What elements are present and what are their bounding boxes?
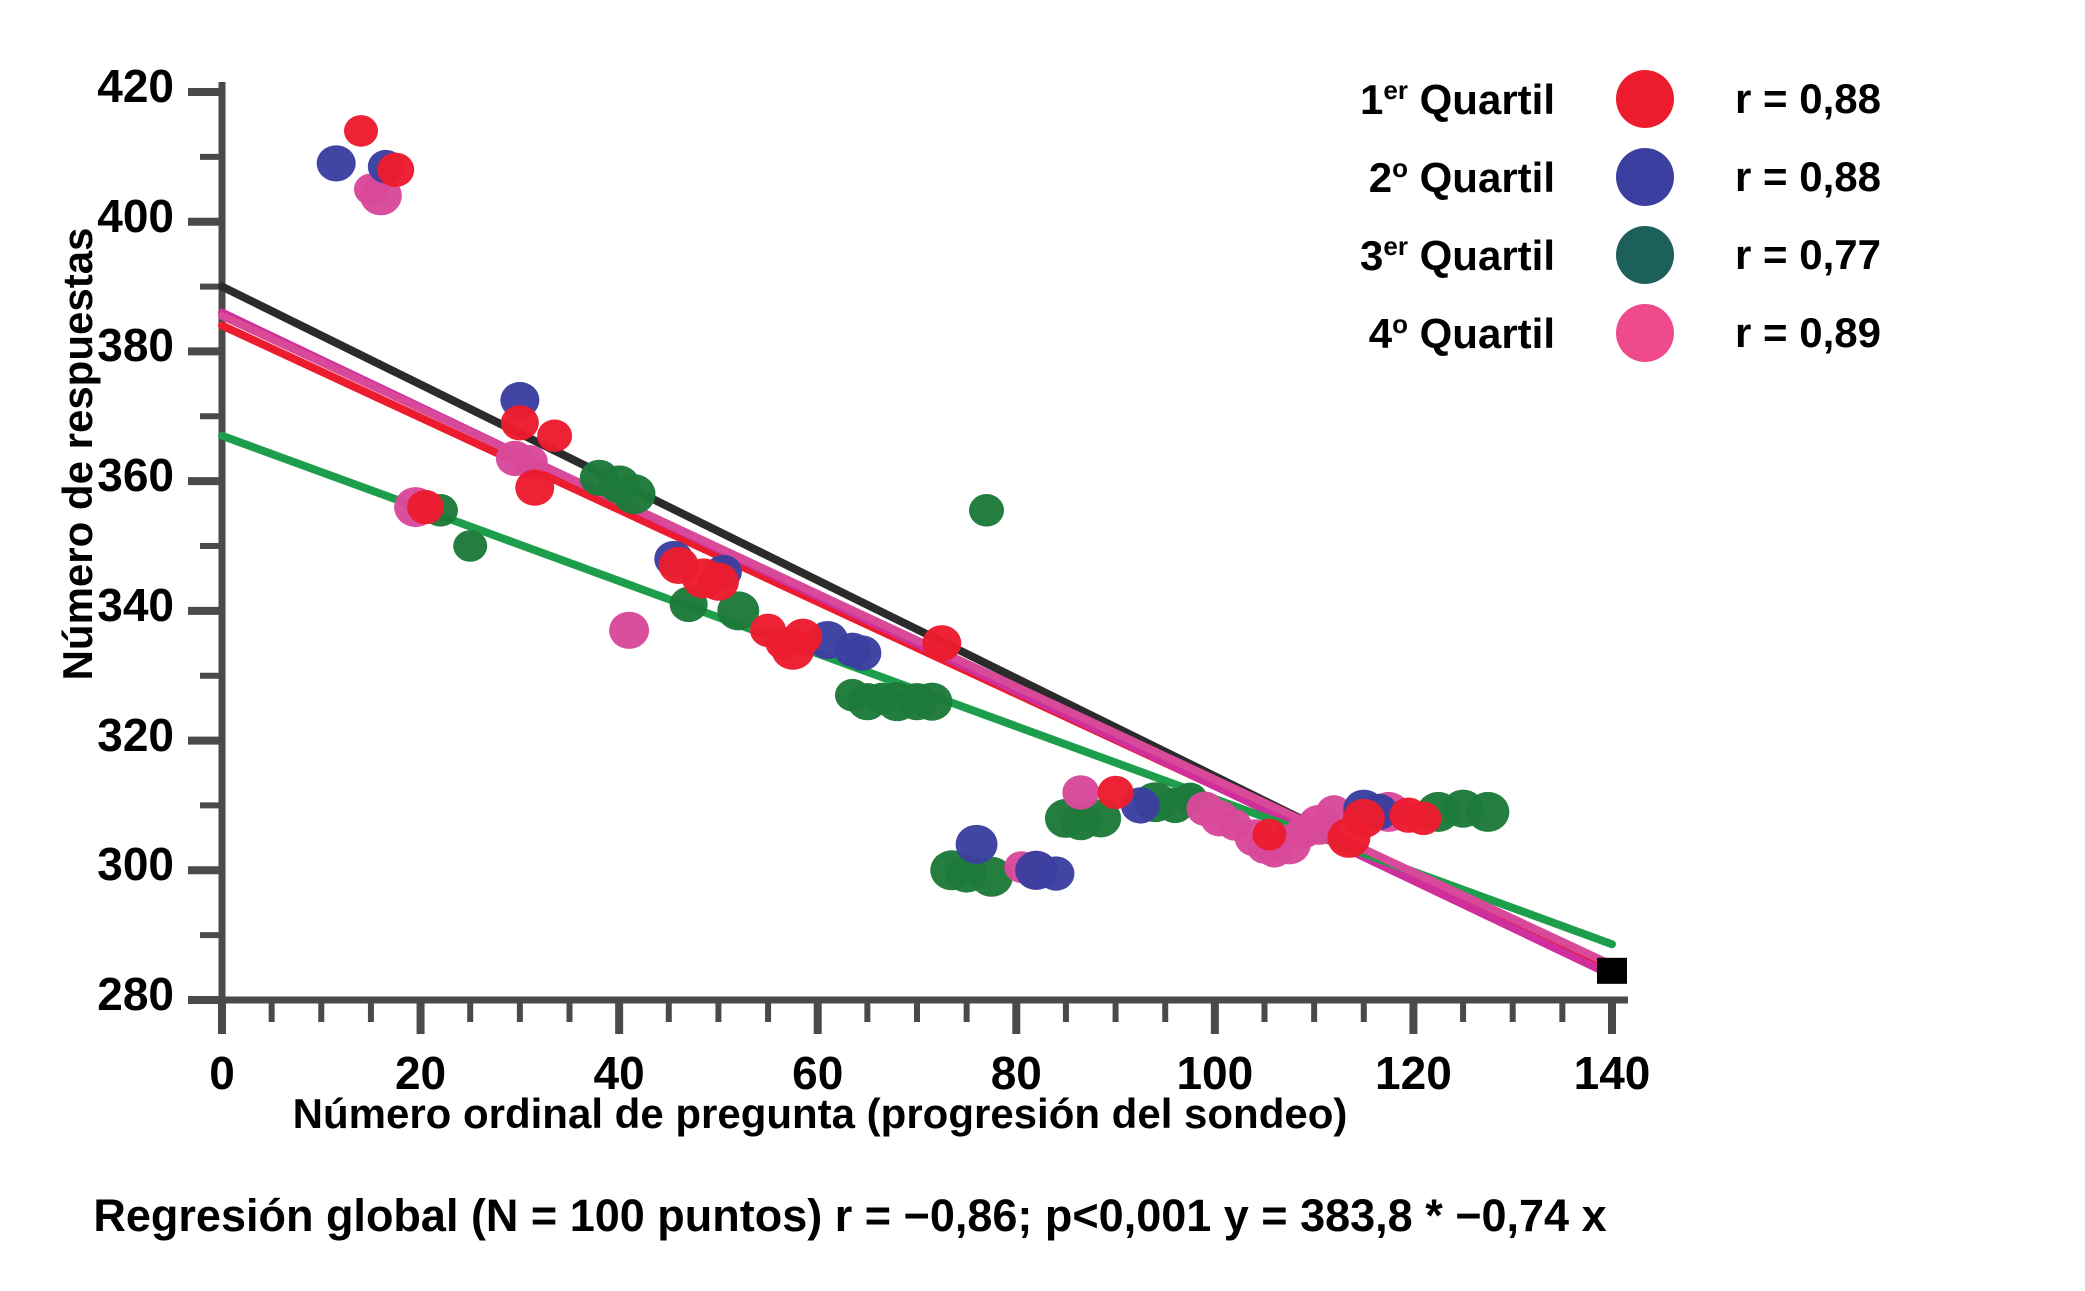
scatter-point <box>453 530 487 562</box>
scatter-point <box>1405 802 1441 835</box>
scatter-point <box>698 563 739 601</box>
legend-dot-icon <box>1616 226 1674 284</box>
y-tick-label: 400 <box>14 189 174 243</box>
regression-caption: Regresión global (N = 100 puntos) r = −0… <box>0 1190 1700 1242</box>
scatter-point <box>609 612 649 649</box>
scatter-point <box>1038 856 1075 890</box>
scatter-point <box>969 494 1004 527</box>
scatter-point <box>613 474 656 514</box>
x-tick-label: 0 <box>142 1046 302 1100</box>
legend-row: 3er Quartil r = 0,77 <box>1265 216 2065 294</box>
scatter-point <box>1252 819 1286 851</box>
scatter-point <box>911 683 952 721</box>
scatter-point <box>317 145 356 181</box>
legend-label-quartile-3: 3er Quartil <box>1265 231 1555 280</box>
x-tick-label: 100 <box>1135 1046 1295 1100</box>
scatter-point <box>344 115 378 147</box>
y-tick-label: 300 <box>14 837 174 891</box>
x-tick-label: 40 <box>539 1046 699 1100</box>
scatter-point <box>1466 792 1509 832</box>
scatter-point <box>1343 799 1385 838</box>
legend-swatch-cell <box>1555 148 1735 206</box>
legend-label-quartile-1: 1er Quartil <box>1265 75 1555 124</box>
x-tick-label: 140 <box>1532 1046 1692 1100</box>
legend-r-value-2: r = 0,88 <box>1735 153 1881 201</box>
legend-swatch-cell <box>1555 70 1735 128</box>
scatter-point <box>1062 775 1099 809</box>
legend-swatch-cell <box>1555 226 1735 284</box>
x-tick-label: 60 <box>738 1046 898 1100</box>
legend-row: 4o Quartil r = 0,89 <box>1265 294 2065 372</box>
x-tick-label: 120 <box>1333 1046 1493 1100</box>
legend-label-quartile-4: 4o Quartil <box>1265 309 1555 358</box>
y-tick-label: 380 <box>14 318 174 372</box>
y-tick-label: 280 <box>14 967 174 1021</box>
legend-r-value-3: r = 0,77 <box>1735 231 1881 279</box>
legend-label-quartile-2: 2o Quartil <box>1265 153 1555 202</box>
x-tick-label: 80 <box>936 1046 1096 1100</box>
scatter-point <box>537 419 572 452</box>
legend-dot-icon <box>1616 304 1674 362</box>
legend-r-value-1: r = 0,88 <box>1735 75 1881 123</box>
scatter-point <box>377 153 414 187</box>
legend-swatch-cell <box>1555 304 1735 362</box>
y-tick-label: 360 <box>14 448 174 502</box>
x-tick-label: 20 <box>341 1046 501 1100</box>
legend-row: 1er Quartil r = 0,88 <box>1265 60 2065 138</box>
endpoint-square-marker <box>1597 958 1627 984</box>
chart-legend: 1er Quartil r = 0,88 2o Quartil r = 0,88… <box>1265 60 2065 372</box>
y-tick-label: 320 <box>14 708 174 762</box>
scatter-point <box>515 469 554 505</box>
scatter-point <box>501 405 539 440</box>
chart-root: Número de respuestas Número ordinal de p… <box>0 0 2085 1291</box>
regression-line-q4 <box>222 316 1612 965</box>
legend-dot-icon <box>1616 148 1674 206</box>
y-tick-label: 420 <box>14 59 174 113</box>
legend-row: 2o Quartil r = 0,88 <box>1265 138 2065 216</box>
scatter-point <box>407 490 444 524</box>
scatter-point <box>843 635 881 670</box>
scatter-point <box>956 825 998 864</box>
scatter-point <box>1098 776 1134 809</box>
y-tick-label: 340 <box>14 578 174 632</box>
scatter-point <box>922 625 961 661</box>
scatter-point <box>783 619 822 655</box>
legend-r-value-4: r = 0,89 <box>1735 309 1881 357</box>
legend-dot-icon <box>1616 70 1674 128</box>
